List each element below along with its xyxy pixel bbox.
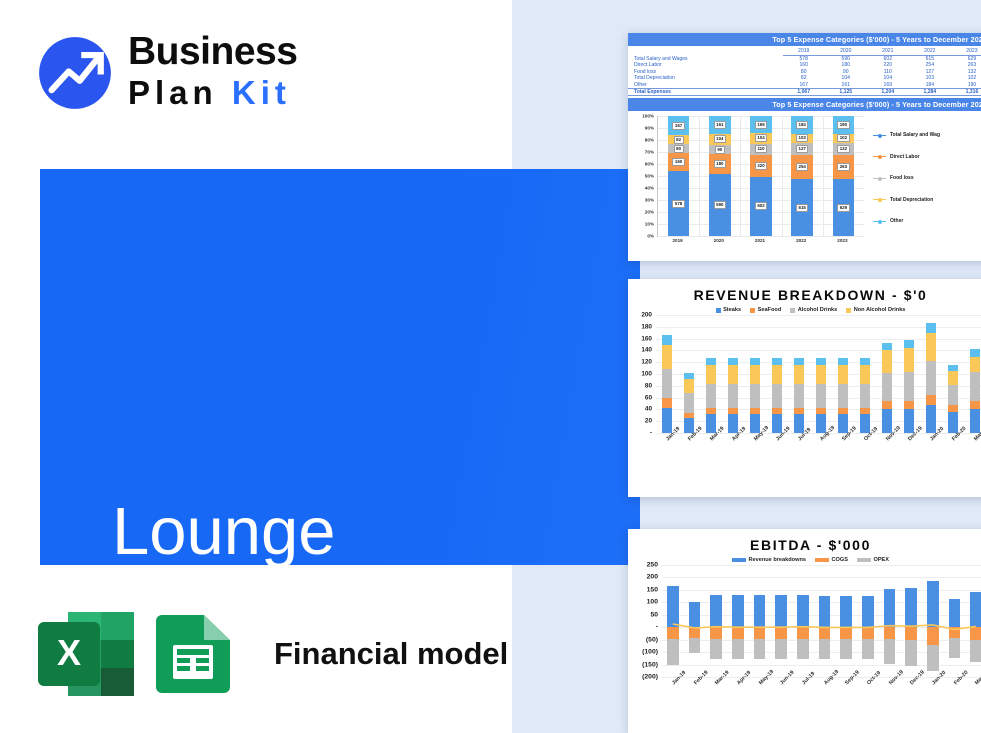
svg-text:X: X	[57, 632, 81, 673]
chart3-y-tick: (150)	[642, 661, 658, 668]
chart1-bar-segment: 184	[791, 116, 812, 133]
chart1-data-label: 167	[672, 122, 684, 130]
chart1-legend-label: Other	[890, 218, 903, 224]
chart1-data-label: 602	[755, 202, 767, 210]
chart2-bar-segment	[838, 408, 848, 413]
chart1-bar-segment: 629	[833, 179, 854, 236]
chart3-y-tick: 50	[650, 611, 658, 618]
chart1-plot-area: 5781608082167590180901041616022201101041…	[657, 116, 864, 237]
table-col-header: 2021	[867, 48, 909, 56]
chart2-bar-column	[750, 358, 760, 433]
chart1-x-tick: 2021	[755, 238, 765, 243]
chart1-bar-segment: 263	[833, 155, 854, 179]
chart1-data-label: 169	[755, 121, 767, 129]
table-cell-value: 1,284	[909, 89, 951, 96]
revenue-chart-legend: SteaksSeaFoodAlcohol DrinksNon Alcohol D…	[628, 307, 981, 313]
chart1-gridline	[658, 236, 864, 237]
chart1-bar-segment: 160	[668, 153, 689, 171]
chart1-legend-marker	[873, 221, 886, 222]
chart1-legend-label: Direct Labor	[890, 154, 919, 160]
chart3-y-tick: -	[656, 624, 658, 631]
chart2-bar-segment	[750, 358, 760, 364]
chart1-legend-marker	[873, 199, 886, 200]
table-col-header: 2020	[825, 48, 867, 56]
chart2-bar-segment	[816, 358, 826, 364]
chart1-vgridline	[782, 116, 783, 236]
chart1-x-tick: 2023	[837, 238, 847, 243]
chart2-bar-column	[794, 358, 804, 433]
chart2-bar-segment	[926, 361, 936, 395]
chart2-bar-segment	[904, 401, 914, 409]
chart1-bar-segment: 220	[750, 155, 771, 177]
table-cell-value: 190	[951, 82, 981, 89]
revenue-legend-label: Steaks	[723, 307, 741, 313]
chart1-data-label: 590	[714, 201, 726, 209]
chart1-bar-segment: 180	[709, 154, 730, 173]
chart1-data-label: 161	[714, 121, 726, 129]
chart1-bar-segment: 104	[709, 134, 730, 145]
chart2-bar-segment	[794, 414, 804, 433]
chart3-plot-area	[662, 565, 981, 677]
chart2-bar-segment	[970, 372, 980, 401]
table-cell-label: Other	[628, 82, 783, 89]
expense-chart-title: Top 5 Expense Categories ($'000) - 5 Yea…	[628, 98, 981, 111]
ebitda-legend-item: Revenue breakdowns	[732, 557, 806, 563]
chart1-data-label: 180	[714, 160, 726, 168]
ebitda-chart-legend: Revenue breakdownsCOGSOPEX	[628, 557, 981, 563]
chart1-y-tick: 0%	[647, 234, 654, 239]
chart1-legend-item: Total Depreciation	[873, 197, 981, 203]
table-row: Total Salary and Wages578590602615629	[628, 56, 981, 63]
chart1-data-label: 220	[755, 162, 767, 170]
chart2-y-tick: 20	[645, 418, 652, 425]
chart1-data-label: 110	[755, 145, 767, 153]
chart1-bar-segment: 161	[709, 116, 730, 133]
chart2-bar-segment	[728, 365, 738, 384]
chart1-bar-segment: 167	[668, 116, 689, 135]
chart1-bar-column: 5781608082167	[668, 116, 689, 236]
table-body: Total Salary and Wages578590602615629Dir…	[628, 56, 981, 96]
table-col-header: 2019	[783, 48, 825, 56]
ebitda-legend-swatch	[732, 558, 746, 562]
chart2-bar-segment	[970, 401, 980, 410]
chart2-bar-segment	[882, 409, 892, 433]
ebitda-legend-swatch	[857, 558, 871, 562]
chart2-bar-segment	[794, 384, 804, 408]
chart1-legend-marker	[873, 178, 886, 179]
chart2-bar-segment	[970, 357, 980, 372]
chart2-bar-segment	[904, 348, 914, 372]
chart2-bar-segment	[948, 405, 958, 411]
revenue-legend-swatch	[716, 308, 721, 313]
chart3-y-tick: (100)	[642, 649, 658, 656]
table-cell-value: 184	[909, 82, 951, 89]
chart1-y-tick: 50%	[645, 174, 654, 179]
chart2-y-tick: 60	[645, 394, 652, 401]
table-cell-value: 602	[867, 56, 909, 63]
table-cell-value: 615	[909, 56, 951, 63]
table-cell-label: Total Expenses	[628, 89, 783, 96]
chart1-bar-segment: 127	[791, 143, 812, 155]
chart2-bar-segment	[728, 358, 738, 364]
expense-table: 20192020202120222023 Total Salary and Wa…	[628, 48, 981, 96]
chart2-bar-segment	[882, 350, 892, 373]
revenue-legend-swatch	[846, 308, 851, 313]
table-col-header: 2023	[951, 48, 981, 56]
chart2-bar-segment	[706, 414, 716, 433]
chart1-legend-item: Food loss	[873, 175, 981, 181]
ebitda-legend-swatch	[815, 558, 829, 562]
table-cell-value: 1,067	[783, 89, 825, 96]
chart1-bar-segment: 104	[750, 133, 771, 143]
chart2-y-axis: -20406080100120140160180200	[628, 315, 654, 433]
chart1-data-label: 263	[837, 163, 849, 171]
chart3-y-tick: 200	[647, 574, 658, 581]
chart2-bar-segment	[860, 365, 870, 384]
chart2-bar-segment	[816, 384, 826, 408]
chart1-data-label: 184	[796, 121, 808, 129]
chart2-y-tick: 40	[645, 406, 652, 413]
chart2-bar-column	[970, 349, 980, 433]
chart2-bar-segment	[904, 340, 914, 348]
logo-word-plan: Plan	[128, 74, 232, 111]
chart1-y-tick: 20%	[645, 210, 654, 215]
table-cell-value: 1,204	[867, 89, 909, 96]
chart1-bar-column: 629263132102190	[833, 116, 854, 236]
chart1-data-label: 82	[674, 136, 684, 144]
chart1-legend-marker	[873, 156, 886, 157]
chart2-bar-column	[882, 343, 892, 433]
ebitda-legend-item: COGS	[815, 557, 848, 563]
chart2-bar-segment	[662, 345, 672, 369]
chart2-bar-segment	[750, 414, 760, 433]
chart2-bar-segment	[662, 335, 672, 345]
chart2-y-tick: 200	[641, 312, 652, 319]
chart1-bar-segment: 90	[709, 145, 730, 155]
revenue-legend-item: Steaks	[716, 307, 742, 313]
chart1-bar-segment: 602	[750, 177, 771, 237]
chart1-y-tick: 10%	[645, 222, 654, 227]
chart2-bar-segment	[926, 333, 936, 361]
chart2-bar-segment	[838, 384, 848, 408]
page-title: Lounge	[112, 497, 336, 567]
chart1-bar-segment: 110	[750, 144, 771, 155]
hero-title-block: Lounge	[40, 169, 640, 565]
chart2-bar-segment	[772, 414, 782, 433]
format-label: Financial model	[274, 636, 508, 672]
chart2-bar-segment	[772, 365, 782, 384]
chart2-bar-segment	[926, 323, 936, 333]
logo-word-kit: Kit	[232, 74, 291, 111]
chart2-bar-column	[860, 358, 870, 433]
chart2-bar-segment	[816, 414, 826, 433]
chart2-bar-segment	[860, 408, 870, 413]
chart2-bar-column	[728, 358, 738, 433]
chart2-bar-segment	[860, 414, 870, 433]
chart2-bar-segment	[750, 365, 760, 384]
chart1-data-label: 578	[672, 200, 684, 208]
chart1-legend-marker	[873, 135, 886, 136]
chart1-data-label: 104	[714, 135, 726, 143]
chart2-gridline	[656, 315, 981, 316]
table-cell-value: 629	[951, 56, 981, 63]
chart1-legend-item: Other	[873, 218, 981, 224]
ebitda-legend-label: OPEX	[873, 557, 889, 563]
chart1-legend-item: Total Salary and Wag	[873, 132, 981, 138]
revenue-legend-swatch	[790, 308, 795, 313]
chart2-bar-column	[948, 365, 958, 433]
revenue-chart-title: REVENUE BREAKDOWN - $'0	[628, 287, 981, 303]
chart1-data-label: 103	[796, 134, 808, 142]
revenue-legend-label: Non Alcohol Drinks	[854, 307, 906, 313]
chart1-bar-segment: 103	[791, 134, 812, 144]
ebitda-chart-body: 25020015010050-(50)(100)(150)(200) Jan-1…	[628, 565, 981, 705]
chart2-bar-segment	[706, 358, 716, 364]
revenue-legend-item: Non Alcohol Drinks	[846, 307, 905, 313]
microsoft-excel-icon: X	[38, 612, 134, 696]
chart2-bar-segment	[948, 371, 958, 385]
chart2-bar-segment	[684, 379, 694, 393]
chart1-data-label: 132	[837, 145, 849, 153]
revenue-legend-label: SeaFood	[758, 307, 782, 313]
chart2-bar-segment	[816, 408, 826, 413]
table-cell-value: 578	[783, 56, 825, 63]
chart1-legend-item: Direct Labor	[873, 154, 981, 160]
chart1-y-tick: 80%	[645, 138, 654, 143]
chart1-data-label: 254	[796, 163, 808, 171]
chart1-legend: Total Salary and WagDirect LaborFood los…	[873, 132, 981, 240]
chart2-bar-segment	[772, 408, 782, 413]
chart2-y-tick: 140	[641, 347, 652, 354]
chart2-bar-column	[662, 335, 672, 433]
chart1-y-tick: 90%	[645, 126, 654, 131]
table-cell-value: 1,125	[825, 89, 867, 96]
chart1-data-label: 127	[796, 145, 808, 153]
chart1-data-label: 190	[837, 121, 849, 129]
logo-line-business: Business	[128, 30, 297, 74]
chart1-y-tick: 30%	[645, 198, 654, 203]
chart1-y-tick: 100%	[642, 114, 654, 119]
chart1-data-label: 104	[755, 134, 767, 142]
chart1-bar-segment: 82	[668, 135, 689, 144]
chart2-bar-segment	[750, 408, 760, 413]
chart1-data-label: 102	[837, 134, 849, 142]
card-expense-categories: Top 5 Expense Categories ($'000) - 5 Yea…	[628, 33, 981, 261]
chart2-bar-segment	[948, 412, 958, 433]
expense-stacked-chart: 0%10%20%30%40%50%60%70%80%90%100% 578160…	[628, 114, 981, 252]
chart2-bar-segment	[794, 365, 804, 384]
ebitda-legend-label: Revenue breakdowns	[748, 557, 806, 563]
table-cell-value: 161	[825, 82, 867, 89]
chart2-bar-segment	[926, 405, 936, 433]
chart2-y-tick: 120	[641, 359, 652, 366]
chart2-bar-segment	[684, 393, 694, 412]
chart3-ebitda-line	[662, 565, 981, 677]
chart1-vgridline	[699, 116, 700, 236]
chart3-y-axis: 25020015010050-(50)(100)(150)(200)	[628, 565, 660, 677]
chart3-y-tick: 100	[647, 599, 658, 606]
revenue-legend-item: Alcohol Drinks	[790, 307, 837, 313]
table-cell-value: 169	[867, 82, 909, 89]
chart2-bar-segment	[662, 398, 672, 408]
table-header-row: 20192020202120222023	[628, 48, 981, 56]
chart2-bar-column	[706, 358, 716, 433]
chart2-bar-segment	[728, 408, 738, 413]
chart2-bar-segment	[860, 358, 870, 364]
chart2-bar-segment	[662, 369, 672, 398]
chart2-bar-segment	[904, 409, 914, 433]
chart2-bar-segment	[706, 365, 716, 384]
chart2-bar-segment	[970, 349, 980, 357]
chart2-bar-segment	[706, 408, 716, 413]
chart1-bar-segment: 80	[668, 144, 689, 153]
chart1-y-tick: 60%	[645, 162, 654, 167]
chart1-bar-segment: 578	[668, 171, 689, 236]
chart1-bar-column: 615254127103184	[791, 116, 812, 236]
table-cell-value: 167	[783, 82, 825, 89]
chart2-bar-segment	[816, 365, 826, 384]
chart1-bar-column: 59018090104161	[709, 116, 730, 236]
chart2-bar-segment	[662, 408, 672, 433]
revenue-legend-item: SeaFood	[750, 307, 781, 313]
chart2-bar-segment	[794, 408, 804, 413]
chart2-bar-segment	[794, 358, 804, 364]
card-ebitda: EBITDA - $'000 Revenue breakdownsCOGSOPE…	[628, 529, 981, 733]
chart2-bar-segment	[860, 384, 870, 408]
chart2-bar-segment	[772, 384, 782, 408]
chart1-bar-segment: 254	[791, 155, 812, 179]
chart2-bar-column	[926, 323, 936, 433]
chart1-data-label: 160	[672, 158, 684, 166]
chart2-bar-segment	[750, 384, 760, 408]
expense-table-title: Top 5 Expense Categories ($'000) - 5 Yea…	[628, 33, 981, 46]
table-row: Other167161169184190	[628, 82, 981, 89]
chart2-bar-segment	[684, 373, 694, 379]
ebitda-legend-label: COGS	[831, 557, 847, 563]
chart1-vgridline	[823, 116, 824, 236]
revenue-legend-label: Alcohol Drinks	[798, 307, 837, 313]
chart1-data-label: 80	[674, 145, 684, 153]
chart2-bar-segment	[948, 365, 958, 371]
chart2-bar-segment	[882, 343, 892, 350]
chart2-bar-segment	[728, 414, 738, 433]
chart2-bar-column	[816, 358, 826, 433]
brand-logo: Business Plan Kit	[36, 30, 436, 118]
chart2-bar-segment	[904, 372, 914, 401]
chart1-bar-segment: 190	[833, 116, 854, 133]
chart2-bar-segment	[838, 414, 848, 433]
table-cell-label: Total Salary and Wages	[628, 56, 783, 63]
chart3-y-tick: (50)	[646, 636, 658, 643]
chart3-gridline	[662, 677, 981, 678]
trend-arrow-circle-icon	[36, 34, 114, 112]
chart1-legend-label: Total Salary and Wag	[890, 132, 940, 138]
chart2-bar-segment	[882, 373, 892, 401]
chart1-bar-segment: 590	[709, 174, 730, 237]
table-col-header: 2022	[909, 48, 951, 56]
ebitda-chart-title: EBITDA - $'000	[628, 537, 981, 553]
chart3-y-tick: (200)	[642, 674, 658, 681]
chart2-bar-column	[772, 358, 782, 433]
chart2-y-tick: 180	[641, 323, 652, 330]
chart2-bar-segment	[926, 395, 936, 405]
chart2-bar-segment	[948, 385, 958, 406]
chart1-vgridline	[740, 116, 741, 236]
chart1-x-tick: 2019	[672, 238, 682, 243]
chart1-x-tick: 2022	[796, 238, 806, 243]
chart2-bar-segment	[838, 365, 848, 384]
chart1-y-tick: 70%	[645, 150, 654, 155]
chart1-legend-label: Total Depreciation	[890, 197, 933, 203]
logo-line-plan-kit: Plan Kit	[128, 74, 297, 112]
table-row-total: Total Expenses1,0671,1251,2041,2841,316	[628, 89, 981, 96]
chart3-y-tick: 150	[647, 586, 658, 593]
chart2-bar-segment	[882, 401, 892, 409]
ebitda-legend-item: OPEX	[857, 557, 889, 563]
table-col-header	[628, 48, 783, 56]
chart2-bar-segment	[838, 358, 848, 364]
chart2-y-tick: 80	[645, 382, 652, 389]
chart2-bar-segment	[772, 358, 782, 364]
chart1-bar-column: 602220110104169	[750, 116, 771, 236]
chart1-data-label: 615	[796, 204, 808, 212]
chart1-bar-segment: 169	[750, 116, 771, 133]
chart2-bar-column	[684, 373, 694, 433]
chart2-bar-column	[904, 340, 914, 433]
chart2-bar-segment	[706, 384, 716, 408]
table-cell-value: 1,316	[951, 89, 981, 96]
chart2-bar-segment	[970, 409, 980, 433]
chart2-bar-segment	[728, 384, 738, 408]
chart1-y-axis: 0%10%20%30%40%50%60%70%80%90%100%	[630, 116, 656, 236]
chart1-legend-label: Food loss	[890, 175, 914, 181]
chart1-bar-segment: 102	[833, 134, 854, 143]
chart2-y-tick: -	[650, 430, 652, 437]
card-revenue-breakdown: REVENUE BREAKDOWN - $'0 SteaksSeaFoodAlc…	[628, 279, 981, 497]
chart3-y-tick: 250	[647, 562, 658, 569]
chart1-x-tick: 2020	[714, 238, 724, 243]
chart1-bar-segment: 132	[833, 143, 854, 155]
revenue-legend-swatch	[750, 308, 755, 313]
chart1-data-label: 629	[837, 204, 849, 212]
revenue-chart-body: -20406080100120140160180200 Jan-19Feb-19…	[628, 315, 981, 465]
chart2-plot-area	[656, 315, 981, 433]
chart2-bar-column	[838, 358, 848, 433]
table-cell-value: 590	[825, 56, 867, 63]
chart2-bar-segment	[684, 413, 694, 418]
chart1-bar-segment: 615	[791, 179, 812, 237]
google-sheets-icon	[156, 615, 230, 693]
chart2-y-tick: 160	[641, 335, 652, 342]
chart1-data-label: 90	[715, 146, 725, 154]
chart1-y-tick: 40%	[645, 186, 654, 191]
chart2-y-tick: 100	[641, 371, 652, 378]
